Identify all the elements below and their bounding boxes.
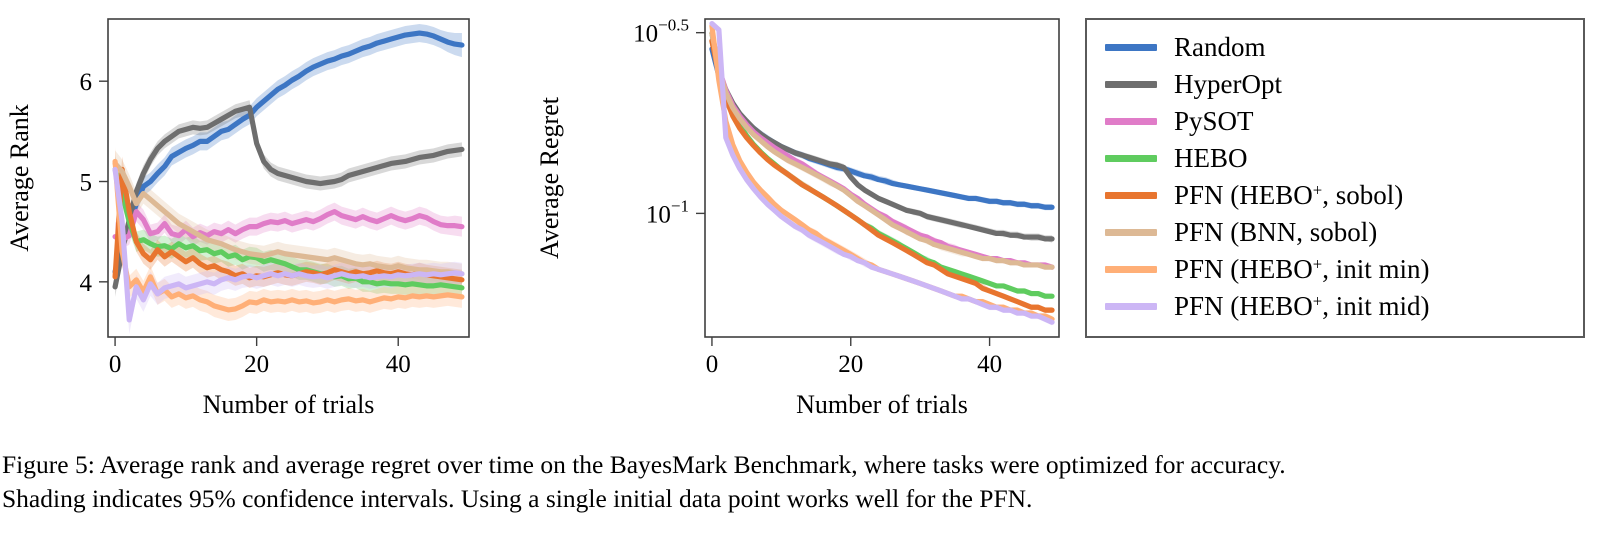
x-tick-label: 40 <box>386 351 411 378</box>
y-tick-label: 6 <box>80 69 93 96</box>
legend-swatch-icon <box>1105 81 1157 88</box>
legend-item-label: PFN (HEBO+, sobol) <box>1174 182 1403 209</box>
x-tick-label: 0 <box>109 351 122 378</box>
legend-swatch-icon <box>1105 192 1157 199</box>
legend-swatch-icon <box>1105 229 1157 236</box>
legend-item-label: PySOT <box>1174 108 1254 135</box>
legend-swatch-icon <box>1105 44 1157 51</box>
legend-item[interactable]: PFN (BNN, sobol) <box>1105 214 1583 251</box>
y-axis-title: Average Rank <box>5 104 34 252</box>
legend-swatch-icon <box>1105 118 1157 125</box>
legend-item[interactable]: HEBO <box>1105 140 1583 177</box>
figure-caption: Figure 5: Average rank and average regre… <box>2 448 1598 515</box>
legend-item-label: Random <box>1174 34 1266 61</box>
legend-item-label: PFN (BNN, sobol) <box>1174 219 1377 246</box>
legend-item[interactable]: HyperOpt <box>1105 66 1583 103</box>
legend-swatch-icon <box>1105 303 1157 310</box>
x-axis-title: Number of trials <box>796 390 968 419</box>
legend-swatch-icon <box>1105 266 1157 273</box>
legend-item[interactable]: PFN (HEBO+, init mid) <box>1105 288 1583 325</box>
y-tick-label: 5 <box>80 170 93 197</box>
x-tick-label: 20 <box>838 351 863 378</box>
x-tick-label: 40 <box>977 351 1002 378</box>
y-tick-label: 10−0.5 <box>633 16 689 48</box>
figure-5: 02040456Number of trialsAverage Rank 020… <box>0 0 1600 552</box>
legend-item[interactable]: PFN (HEBO+, init min) <box>1105 251 1583 288</box>
panel-average-regret: 0204010−0.510−1Number of trialsAverage R… <box>530 0 1080 440</box>
legend-item-label: HEBO <box>1174 145 1248 172</box>
x-axis-title: Number of trials <box>203 390 375 419</box>
legend-item[interactable]: PySOT <box>1105 103 1583 140</box>
legend-item-label: PFN (HEBO+, init min) <box>1174 256 1429 283</box>
average-regret-chart: 0204010−0.510−1Number of trialsAverage R… <box>530 0 1080 440</box>
legend-item-label: PFN (HEBO+, init mid) <box>1174 293 1429 320</box>
legend-item[interactable]: PFN (HEBO+, sobol) <box>1105 177 1583 214</box>
caption-line-2: Shading indicates 95% confidence interva… <box>2 482 1598 516</box>
legend-swatch-icon <box>1105 155 1157 162</box>
average-rank-chart: 02040456Number of trialsAverage Rank <box>0 0 530 440</box>
legend-item[interactable]: Random <box>1105 29 1583 66</box>
legend-container: RandomHyperOptPySOTHEBOPFN (HEBO+, sobol… <box>1085 18 1585 338</box>
plot-panels: 02040456Number of trialsAverage Rank 020… <box>0 0 1600 440</box>
y-axis-title: Average Regret <box>535 96 564 259</box>
y-tick-label: 4 <box>80 270 93 297</box>
y-tick-label: 10−1 <box>646 196 689 228</box>
legend: RandomHyperOptPySOTHEBOPFN (HEBO+, sobol… <box>1085 18 1585 338</box>
panel-average-rank: 02040456Number of trialsAverage Rank <box>0 0 530 440</box>
legend-item-label: HyperOpt <box>1174 71 1282 98</box>
caption-line-1: Figure 5: Average rank and average regre… <box>2 448 1598 482</box>
x-tick-label: 0 <box>706 351 719 378</box>
x-tick-label: 20 <box>244 351 269 378</box>
